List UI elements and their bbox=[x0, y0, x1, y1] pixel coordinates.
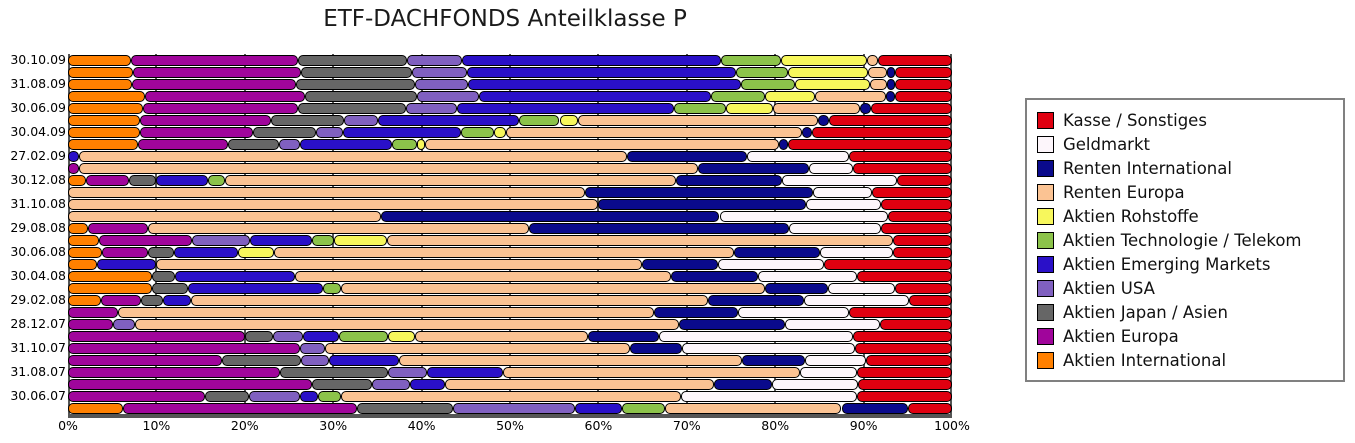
stacked-bar bbox=[68, 247, 952, 258]
stacked-bar bbox=[68, 91, 952, 102]
bar-segment bbox=[897, 175, 952, 186]
bar-segment bbox=[357, 403, 452, 414]
bar-segment bbox=[802, 127, 813, 138]
bar-segment bbox=[68, 283, 152, 294]
bar-segment bbox=[174, 247, 238, 258]
bar-segment bbox=[785, 319, 880, 330]
bar-segment bbox=[208, 175, 226, 186]
bar-segment bbox=[622, 403, 664, 414]
bar-segment bbox=[148, 223, 528, 234]
stacked-bar bbox=[68, 403, 952, 414]
bar-segment bbox=[736, 67, 788, 78]
legend-item[interactable]: Aktien Europa bbox=[1037, 324, 1333, 348]
bar-segment bbox=[68, 271, 152, 282]
bar-segment bbox=[343, 127, 461, 138]
legend-swatch-icon bbox=[1037, 328, 1054, 345]
bar-segment bbox=[79, 163, 698, 174]
bar-segment bbox=[813, 187, 871, 198]
bar-segment bbox=[654, 307, 738, 318]
bar-segment bbox=[659, 331, 853, 342]
y-tick-label: 30.04.08 bbox=[0, 268, 66, 283]
bar-segment bbox=[795, 79, 870, 90]
bar-segment bbox=[68, 67, 133, 78]
bar-segment bbox=[747, 151, 850, 162]
stacked-bar bbox=[68, 79, 952, 90]
legend-item-label: Aktien Emerging Markets bbox=[1063, 255, 1270, 274]
bar-segment bbox=[445, 379, 715, 390]
bar-segment bbox=[503, 367, 800, 378]
legend-item[interactable]: Aktien International bbox=[1037, 348, 1333, 372]
bar-segment bbox=[152, 271, 175, 282]
bar-segment bbox=[298, 103, 406, 114]
bar-segment bbox=[381, 211, 720, 222]
bar-segment bbox=[842, 403, 908, 414]
bar-segment bbox=[132, 79, 296, 90]
legend-item-label: Aktien International bbox=[1063, 351, 1226, 370]
y-tick-label: 29.02.08 bbox=[0, 292, 66, 307]
bar-segment bbox=[250, 235, 312, 246]
bar-segment bbox=[888, 211, 952, 222]
bar-segment bbox=[68, 187, 585, 198]
bar-segment bbox=[741, 79, 795, 90]
bar-segment bbox=[341, 391, 681, 402]
stacked-bar bbox=[68, 55, 952, 66]
bar-segment bbox=[682, 343, 854, 354]
bar-segment bbox=[68, 247, 102, 258]
bar-segment bbox=[417, 139, 425, 150]
stacked-bar bbox=[68, 211, 952, 222]
bar-segment bbox=[68, 151, 79, 162]
bar-segment bbox=[101, 295, 142, 306]
bar-segment bbox=[461, 127, 494, 138]
bar-segment bbox=[788, 139, 952, 150]
bar-segment bbox=[300, 343, 325, 354]
bar-segment bbox=[853, 163, 952, 174]
legend-item-label: Aktien Technologie / Telekom bbox=[1063, 231, 1302, 250]
bar-segment bbox=[143, 103, 298, 114]
legend-swatch-icon bbox=[1037, 184, 1054, 201]
x-tick-label: 30% bbox=[319, 418, 347, 433]
bar-segment bbox=[893, 235, 952, 246]
bar-segment bbox=[425, 139, 779, 150]
bar-segment bbox=[188, 283, 323, 294]
stacked-bar bbox=[68, 343, 952, 354]
y-axis-labels: 30.10.0931.08.0930.06.0930.04.0927.02.09… bbox=[0, 54, 66, 414]
bar-segment bbox=[457, 103, 674, 114]
bar-segment bbox=[68, 79, 132, 90]
bar-segment bbox=[855, 343, 952, 354]
bar-segment bbox=[412, 67, 467, 78]
bar-segment bbox=[279, 139, 300, 150]
bar-segment bbox=[123, 403, 357, 414]
legend-swatch-icon bbox=[1037, 112, 1054, 129]
bar-segment bbox=[407, 55, 463, 66]
bar-segment bbox=[895, 283, 952, 294]
bar-segment bbox=[305, 91, 417, 102]
bar-segment bbox=[468, 79, 740, 90]
bar-segment bbox=[303, 331, 338, 342]
legend-item[interactable]: Geldmarkt bbox=[1037, 132, 1333, 156]
bar-segment bbox=[679, 319, 785, 330]
chart-page: ETF-DACHFONDS Anteilklasse P 30.10.0931.… bbox=[0, 0, 1355, 443]
x-tick-label: 60% bbox=[584, 418, 612, 433]
bar-segment bbox=[138, 139, 228, 150]
legend-item-label: Renten Europa bbox=[1063, 183, 1185, 202]
bar-segment bbox=[378, 115, 519, 126]
chart-legend: Kasse / SonstigesGeldmarktRenten Interna… bbox=[1025, 98, 1345, 382]
y-tick-label: 30.04.09 bbox=[0, 124, 66, 139]
bar-segment bbox=[141, 295, 163, 306]
x-tick-label: 40% bbox=[408, 418, 436, 433]
stacked-bar bbox=[68, 67, 952, 78]
bar-segment bbox=[68, 259, 97, 270]
bar-segment bbox=[316, 127, 343, 138]
y-tick-label: 30.06.07 bbox=[0, 388, 66, 403]
bar-segment bbox=[415, 79, 468, 90]
bar-segment bbox=[506, 127, 802, 138]
plot-area bbox=[68, 54, 952, 414]
stacked-bar bbox=[68, 295, 952, 306]
bar-segment bbox=[857, 271, 952, 282]
y-tick-label: 31.10.08 bbox=[0, 196, 66, 211]
bar-segment bbox=[467, 67, 737, 78]
bar-segment bbox=[881, 199, 952, 210]
bar-segment bbox=[68, 91, 145, 102]
bar-segment bbox=[68, 115, 140, 126]
x-tick-label: 70% bbox=[673, 418, 701, 433]
bar-segment bbox=[280, 367, 388, 378]
legend-swatch-icon bbox=[1037, 208, 1054, 225]
y-tick-label: 28.12.07 bbox=[0, 316, 66, 331]
x-tick-label: 10% bbox=[142, 418, 170, 433]
bar-segment bbox=[726, 103, 774, 114]
bar-segment bbox=[494, 127, 505, 138]
stacked-bar bbox=[68, 163, 952, 174]
legend-item-label: Aktien Rohstoffe bbox=[1063, 207, 1199, 226]
bar-segment bbox=[858, 379, 952, 390]
bar-segment bbox=[909, 295, 952, 306]
stacked-bar bbox=[68, 367, 952, 378]
legend-item[interactable]: Aktien Rohstoffe bbox=[1037, 204, 1333, 228]
bar-segment bbox=[295, 271, 671, 282]
bar-segment bbox=[205, 391, 249, 402]
bar-segment bbox=[148, 247, 174, 258]
stacked-bar bbox=[68, 307, 952, 318]
bar-segment bbox=[829, 115, 952, 126]
y-tick-label: 31.08.07 bbox=[0, 364, 66, 379]
bar-segment bbox=[339, 331, 389, 342]
bar-segment bbox=[529, 223, 790, 234]
bar-segment bbox=[575, 403, 622, 414]
bar-segment bbox=[818, 115, 829, 126]
bar-segment bbox=[68, 199, 598, 210]
legend-item[interactable]: Aktien Emerging Markets bbox=[1037, 252, 1333, 276]
bar-segment bbox=[519, 115, 560, 126]
bar-segment bbox=[175, 271, 295, 282]
bar-segment bbox=[68, 127, 140, 138]
stacked-bar bbox=[68, 223, 952, 234]
bar-segment bbox=[323, 283, 341, 294]
bar-segment bbox=[417, 91, 479, 102]
bar-segment bbox=[228, 139, 279, 150]
stacked-bar bbox=[68, 199, 952, 210]
bar-segment bbox=[588, 331, 659, 342]
bar-segment bbox=[79, 151, 627, 162]
bar-segment bbox=[849, 151, 952, 162]
bar-segment bbox=[773, 103, 860, 114]
bar-segment bbox=[828, 283, 894, 294]
bar-segment bbox=[131, 55, 298, 66]
bar-segment bbox=[118, 307, 655, 318]
bar-segment bbox=[642, 259, 718, 270]
bar-segment bbox=[853, 331, 952, 342]
bar-segment bbox=[782, 175, 897, 186]
bar-segment bbox=[714, 379, 771, 390]
x-tick-label: 20% bbox=[231, 418, 259, 433]
bar-segment bbox=[800, 367, 857, 378]
x-tick-label: 100% bbox=[934, 418, 970, 433]
bar-segment bbox=[68, 139, 138, 150]
legend-item-label: Renten International bbox=[1063, 159, 1232, 178]
bar-segment bbox=[300, 391, 318, 402]
bar-segment bbox=[312, 379, 372, 390]
bar-segment bbox=[867, 55, 878, 66]
stacked-bar bbox=[68, 391, 952, 402]
bar-segment bbox=[711, 91, 765, 102]
bar-segment bbox=[68, 367, 280, 378]
stacked-bar bbox=[68, 115, 952, 126]
bar-segment bbox=[779, 139, 789, 150]
bar-segment bbox=[820, 247, 892, 258]
bar-segment bbox=[788, 67, 868, 78]
bar-segment bbox=[99, 235, 192, 246]
bar-segment bbox=[191, 295, 708, 306]
bar-segment bbox=[427, 367, 503, 378]
bar-segment bbox=[86, 175, 129, 186]
bar-segment bbox=[772, 379, 859, 390]
bar-segment bbox=[806, 199, 881, 210]
bar-segment bbox=[152, 283, 188, 294]
bar-segment bbox=[68, 319, 113, 330]
stacked-bar bbox=[68, 103, 952, 114]
bar-segment bbox=[406, 103, 457, 114]
bar-segment bbox=[738, 307, 849, 318]
bar-segment bbox=[671, 271, 758, 282]
bar-segment bbox=[301, 355, 328, 366]
bar-segment bbox=[68, 163, 79, 174]
bar-segment bbox=[721, 55, 781, 66]
bar-segment bbox=[895, 79, 952, 90]
legend-swatch-icon bbox=[1037, 304, 1054, 321]
bar-segment bbox=[872, 187, 952, 198]
x-tick-label: 0% bbox=[58, 418, 78, 433]
stacked-bar bbox=[68, 331, 952, 342]
bar-segment bbox=[68, 103, 143, 114]
bar-segment bbox=[415, 331, 587, 342]
x-tick-label: 50% bbox=[496, 418, 524, 433]
bar-segment bbox=[135, 319, 679, 330]
bar-segment bbox=[387, 235, 893, 246]
x-tick-label: 80% bbox=[761, 418, 789, 433]
legend-swatch-icon bbox=[1037, 232, 1054, 249]
bar-segment bbox=[298, 55, 407, 66]
legend-item[interactable]: Kasse / Sonstiges bbox=[1037, 108, 1333, 132]
bar-segment bbox=[300, 139, 392, 150]
bar-segment bbox=[273, 331, 303, 342]
bar-segment bbox=[742, 355, 806, 366]
bar-segment bbox=[881, 223, 952, 234]
stacked-bar bbox=[68, 187, 952, 198]
bar-segment bbox=[68, 55, 131, 66]
bar-segment bbox=[627, 151, 747, 162]
bar-segment bbox=[681, 391, 856, 402]
stacked-bar bbox=[68, 379, 952, 390]
bar-segment bbox=[296, 79, 415, 90]
stacked-bar bbox=[68, 259, 952, 270]
legend-item[interactable]: Renten International bbox=[1037, 156, 1333, 180]
bar-segment bbox=[274, 247, 734, 258]
bar-segment bbox=[222, 355, 302, 366]
bar-segment bbox=[410, 379, 444, 390]
bar-segment bbox=[140, 127, 252, 138]
bar-segment bbox=[887, 79, 896, 90]
y-tick-label: 27.02.09 bbox=[0, 148, 66, 163]
legend-item[interactable]: Aktien USA bbox=[1037, 276, 1333, 300]
bar-segment bbox=[68, 379, 312, 390]
bar-segment bbox=[238, 247, 274, 258]
bar-segment bbox=[192, 235, 250, 246]
bar-segment bbox=[815, 91, 886, 102]
bar-segment bbox=[765, 283, 828, 294]
bar-segment bbox=[325, 343, 630, 354]
bar-segment bbox=[886, 91, 896, 102]
bar-segment bbox=[734, 247, 821, 258]
bar-segment bbox=[857, 391, 952, 402]
stacked-bar bbox=[68, 271, 952, 282]
bar-segment bbox=[68, 295, 101, 306]
bar-segment bbox=[765, 91, 815, 102]
bar-segment bbox=[871, 103, 952, 114]
legend-item[interactable]: Aktien Technologie / Telekom bbox=[1037, 228, 1333, 252]
bar-segment bbox=[880, 319, 952, 330]
bar-segment bbox=[133, 67, 301, 78]
bar-segment bbox=[560, 115, 579, 126]
bar-segment bbox=[860, 103, 871, 114]
bar-segment bbox=[453, 403, 576, 414]
legend-swatch-icon bbox=[1037, 280, 1054, 297]
bar-segment bbox=[893, 247, 952, 258]
bar-segment bbox=[271, 115, 343, 126]
bar-segment bbox=[718, 259, 824, 270]
legend-swatch-icon bbox=[1037, 256, 1054, 273]
bar-segment bbox=[585, 187, 813, 198]
bar-segment bbox=[225, 175, 676, 186]
legend-swatch-icon bbox=[1037, 352, 1054, 369]
bar-segment bbox=[68, 331, 245, 342]
bar-segment bbox=[140, 115, 271, 126]
bar-segment bbox=[895, 67, 952, 78]
legend-item-label: Aktien USA bbox=[1063, 279, 1155, 298]
legend-item-label: Kasse / Sonstiges bbox=[1063, 111, 1207, 130]
x-tick-label: 90% bbox=[850, 418, 878, 433]
bar-segment bbox=[598, 199, 806, 210]
legend-item-label: Aktien Japan / Asien bbox=[1063, 303, 1228, 322]
bar-segment bbox=[578, 115, 818, 126]
y-tick-label: 29.08.08 bbox=[0, 220, 66, 235]
bar-segment bbox=[68, 355, 222, 366]
y-tick-label: 31.08.09 bbox=[0, 76, 66, 91]
legend-swatch-icon bbox=[1037, 160, 1054, 177]
bar-segment bbox=[341, 283, 765, 294]
bar-segment bbox=[388, 367, 427, 378]
bar-segment bbox=[388, 331, 415, 342]
bar-segment bbox=[163, 295, 190, 306]
chart-title: ETF-DACHFONDS Anteilklasse P bbox=[0, 6, 1010, 32]
legend-item[interactable]: Aktien Japan / Asien bbox=[1037, 300, 1333, 324]
bar-segment bbox=[68, 391, 205, 402]
y-tick-label: 30.10.09 bbox=[0, 52, 66, 67]
bar-segment bbox=[88, 223, 148, 234]
bar-segment bbox=[68, 235, 99, 246]
bar-segment bbox=[372, 379, 410, 390]
y-tick-label: 30.12.08 bbox=[0, 172, 66, 187]
bar-segment bbox=[676, 175, 782, 186]
bar-segment bbox=[399, 355, 742, 366]
stacked-bar bbox=[68, 127, 952, 138]
bar-segment bbox=[878, 55, 952, 66]
stacked-bar bbox=[68, 319, 952, 330]
bar-segment bbox=[781, 55, 867, 66]
bar-segment bbox=[720, 211, 889, 222]
stacked-bar bbox=[68, 283, 952, 294]
bar-segment bbox=[824, 259, 952, 270]
bar-segment bbox=[895, 91, 952, 102]
bar-segment bbox=[849, 307, 952, 318]
bar-segment bbox=[68, 223, 88, 234]
bar-segment bbox=[804, 295, 908, 306]
bar-segment bbox=[113, 319, 135, 330]
bar-segment bbox=[868, 67, 887, 78]
bar-segment bbox=[68, 307, 118, 318]
bar-segment bbox=[145, 91, 305, 102]
bar-segment bbox=[630, 343, 682, 354]
bar-segment bbox=[156, 259, 642, 270]
bar-segment bbox=[245, 331, 273, 342]
bar-segment bbox=[129, 175, 156, 186]
bar-segment bbox=[698, 163, 809, 174]
legend-swatch-icon bbox=[1037, 136, 1054, 153]
bar-segment bbox=[789, 223, 881, 234]
bar-segment bbox=[102, 247, 148, 258]
bar-segment bbox=[68, 211, 381, 222]
bar-segment bbox=[812, 127, 952, 138]
bar-segment bbox=[908, 403, 952, 414]
stacked-bar bbox=[68, 139, 952, 150]
y-tick-label: 31.10.07 bbox=[0, 340, 66, 355]
bar-segment bbox=[68, 343, 300, 354]
bar-segment bbox=[479, 91, 711, 102]
stacked-bar bbox=[68, 151, 952, 162]
y-tick-label: 30.06.09 bbox=[0, 100, 66, 115]
stacked-bar bbox=[68, 175, 952, 186]
legend-item[interactable]: Renten Europa bbox=[1037, 180, 1333, 204]
y-tick-label: 30.06.08 bbox=[0, 244, 66, 259]
bar-segment bbox=[665, 403, 842, 414]
bar-segment bbox=[870, 79, 887, 90]
bar-segment bbox=[253, 127, 316, 138]
legend-item-label: Aktien Europa bbox=[1063, 327, 1179, 346]
bar-segment bbox=[809, 163, 853, 174]
